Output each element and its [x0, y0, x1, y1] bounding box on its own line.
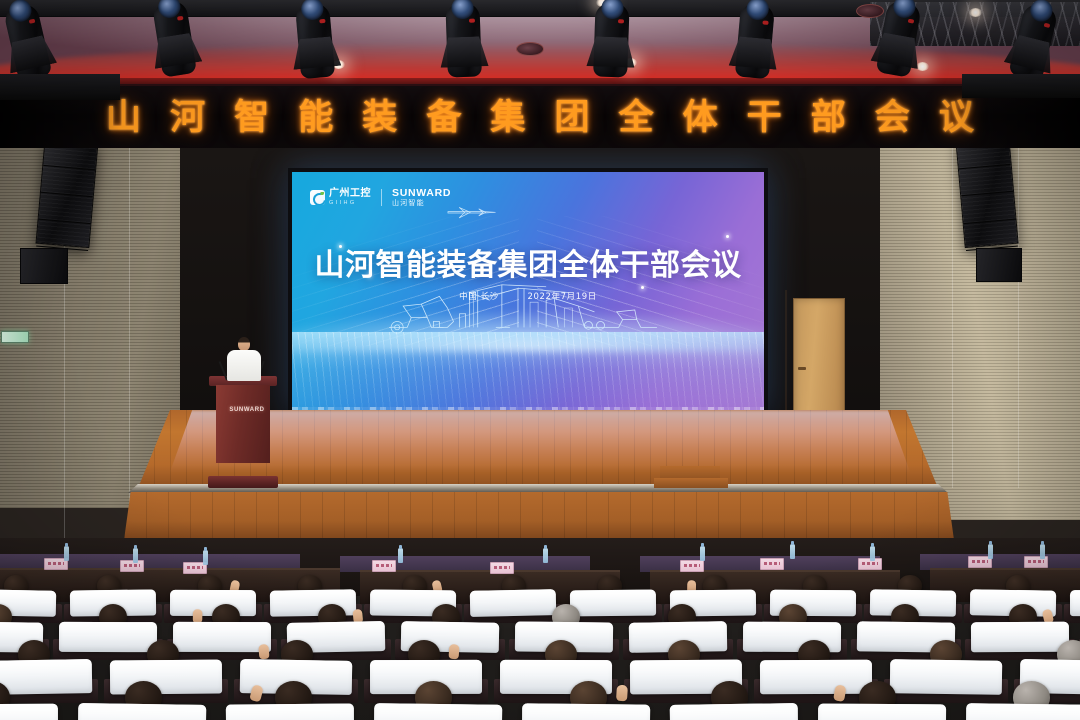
screen-subtitle-date: 2022年7月19日	[527, 292, 596, 302]
podium-brand-text: SUNWARD	[226, 407, 268, 413]
chair-highlight	[78, 703, 206, 720]
seat-chair-cover[interactable]	[570, 590, 656, 617]
chair-highlight	[110, 660, 222, 675]
screen-subtitle-location: 中国·长沙	[459, 292, 499, 302]
screen-title: 山河智能装备集团全体干部会议	[292, 240, 764, 284]
chair-highlight	[522, 703, 650, 720]
ceiling	[0, 0, 1080, 92]
clapping-hand	[616, 685, 628, 702]
seat-chair-cover[interactable]	[818, 704, 946, 720]
name-card	[490, 562, 514, 574]
seat-chair-cover[interactable]	[0, 659, 92, 695]
chair-highlight	[890, 659, 1002, 674]
water-bottle	[203, 550, 208, 565]
seat-chair-cover[interactable]	[971, 622, 1069, 653]
chair-highlight	[629, 621, 727, 635]
chair-highlight	[515, 622, 613, 635]
name-card	[120, 560, 144, 572]
presenter-body	[227, 350, 261, 381]
water-bottle	[870, 546, 875, 561]
name-card	[760, 558, 784, 570]
chair-highlight	[170, 590, 256, 601]
water-bottle	[700, 546, 705, 561]
screen-logo-lockup: 广州工控 GIIHG SUNWARD 山河智能	[310, 188, 451, 207]
name-card	[680, 560, 704, 572]
banner-char: 全	[619, 101, 654, 136]
chair-highlight	[500, 660, 612, 674]
chair-highlight	[0, 704, 58, 720]
audience-seating	[0, 538, 1080, 720]
banner-char: 干	[747, 101, 782, 136]
banner-text: 山河智能装备集团全体干部会议	[106, 94, 974, 142]
seat-chair-cover[interactable]	[173, 622, 271, 652]
stage-step	[654, 478, 728, 488]
speaker-podium: SUNWARD	[212, 376, 274, 488]
door-handle-icon[interactable]	[798, 367, 806, 370]
led-hall-banner: 山河智能装备集团全体干部会议	[0, 84, 1080, 152]
chair-highlight	[240, 659, 352, 674]
exit-sign	[1, 331, 29, 343]
seat-chair-cover[interactable]	[522, 703, 650, 720]
logo-divider	[381, 189, 382, 206]
banner-char: 会	[875, 101, 910, 136]
chair-highlight	[966, 703, 1080, 720]
chair-highlight	[270, 589, 356, 601]
banner-char: 集	[490, 101, 525, 136]
sunward-logo: SUNWARD 山河智能	[392, 188, 451, 207]
water-bottle	[398, 548, 403, 563]
seat-chair-cover[interactable]	[59, 622, 157, 652]
chair-highlight	[970, 589, 1056, 601]
auditorium-photo: 山河智能装备集团全体干部会议	[0, 0, 1080, 720]
aircraft-silhouette-icon	[434, 206, 510, 220]
banner-char: 装	[362, 101, 397, 136]
banner-char: 议	[939, 101, 974, 136]
guangzhou-industrial-control-logo: 广州工控 GIIHG	[310, 189, 371, 206]
wall-seam	[952, 148, 953, 488]
podium-base	[208, 476, 278, 488]
chair-highlight	[59, 622, 157, 634]
screen-surface: 广州工控 GIIHG SUNWARD 山河智能 山河智能装备集团全体干部会议 中…	[292, 172, 764, 414]
giihg-g-mark-icon	[310, 190, 325, 205]
chair-highlight	[770, 590, 856, 601]
name-card	[372, 560, 396, 572]
seat-chair-cover[interactable]	[78, 703, 207, 720]
chair-highlight	[374, 703, 502, 720]
water-bottle	[64, 546, 69, 561]
clapping-hand	[448, 644, 459, 659]
chair-highlight	[971, 622, 1069, 635]
chair-highlight	[370, 660, 482, 674]
seat-chair-cover[interactable]	[670, 703, 799, 720]
chair-highlight	[818, 704, 946, 720]
line-array-speaker	[35, 148, 98, 248]
clapping-hand	[258, 644, 269, 659]
seat-chair-cover[interactable]	[374, 703, 503, 720]
giihg-logo-cn: 广州工控	[329, 189, 371, 200]
stage-front-face	[124, 492, 954, 540]
side-door[interactable]	[793, 298, 845, 425]
chair-highlight	[173, 622, 271, 634]
banner-char: 智	[234, 101, 269, 136]
presenter-person	[227, 337, 261, 381]
stage-screen-reflection	[170, 410, 910, 472]
chair-highlight	[857, 621, 955, 634]
seat-chair-cover[interactable]	[470, 589, 557, 617]
ceiling-spot-light	[916, 62, 929, 71]
banner-char: 团	[554, 101, 589, 136]
chair-highlight	[1070, 590, 1080, 601]
chair-highlight	[226, 703, 354, 720]
chair-highlight	[0, 621, 43, 634]
banner-char: 部	[811, 101, 846, 136]
seat-chair-cover[interactable]	[226, 703, 354, 720]
water-bottle	[543, 548, 548, 563]
chair-highlight	[0, 659, 92, 674]
seat-chair-cover[interactable]	[1070, 590, 1080, 616]
water-bottle	[790, 544, 795, 559]
main-presentation-screen[interactable]: 广州工控 GIIHG SUNWARD 山河智能 山河智能装备集团全体干部会议 中…	[288, 168, 768, 418]
screen-perspective-floor	[292, 332, 764, 414]
chair-highlight	[670, 590, 756, 601]
banner-char: 山	[106, 101, 141, 136]
door-frame	[785, 290, 787, 425]
podium-body: SUNWARD	[216, 385, 270, 463]
subwoofer-speaker	[20, 248, 68, 284]
chair-highlight	[743, 622, 841, 635]
line-array-speaker	[955, 148, 1018, 248]
water-bottle	[988, 544, 993, 559]
seat-chair-cover[interactable]	[966, 703, 1080, 720]
chair-highlight	[470, 589, 556, 601]
giihg-logo-en: GIIHG	[329, 200, 371, 206]
chair-highlight	[870, 589, 956, 601]
seat-chair-cover[interactable]	[890, 659, 1002, 695]
sunward-logo-cn: 山河智能	[392, 199, 451, 207]
chair-highlight	[760, 660, 872, 674]
chair-highlight	[670, 703, 798, 720]
wall-seam	[1018, 148, 1019, 488]
sunward-logo-en: SUNWARD	[392, 188, 451, 199]
overhead-slab	[962, 74, 1080, 98]
ceiling-vent-disc	[856, 4, 884, 18]
subwoofer-speaker	[976, 248, 1022, 282]
screen-subtitle: 中国·长沙 2022年7月19日	[292, 290, 764, 302]
chair-highlight	[630, 660, 742, 674]
chair-highlight	[70, 589, 156, 601]
hall-interior: 广州工控 GIIHG SUNWARD 山河智能 山河智能装备集团全体干部会议 中…	[0, 148, 1080, 720]
water-bottle	[133, 548, 138, 563]
water-bottle	[1040, 544, 1045, 559]
chair-highlight	[287, 621, 385, 635]
seat-chair-cover[interactable]	[0, 704, 58, 720]
chair-highlight	[1020, 659, 1080, 675]
seat-chair-cover[interactable]	[760, 660, 872, 694]
banner-char: 备	[426, 101, 461, 136]
banner-char: 能	[298, 101, 333, 136]
banner-char: 河	[170, 101, 205, 136]
overhead-slab	[0, 74, 120, 100]
chair-highlight	[570, 590, 656, 601]
banner-char: 体	[683, 101, 718, 136]
chair-highlight	[370, 590, 456, 601]
ceiling-vent-disc	[516, 42, 544, 56]
ceiling-spot-light	[969, 8, 982, 17]
presenter-head	[238, 337, 250, 351]
chair-highlight	[0, 589, 56, 601]
chair-highlight	[401, 621, 499, 635]
